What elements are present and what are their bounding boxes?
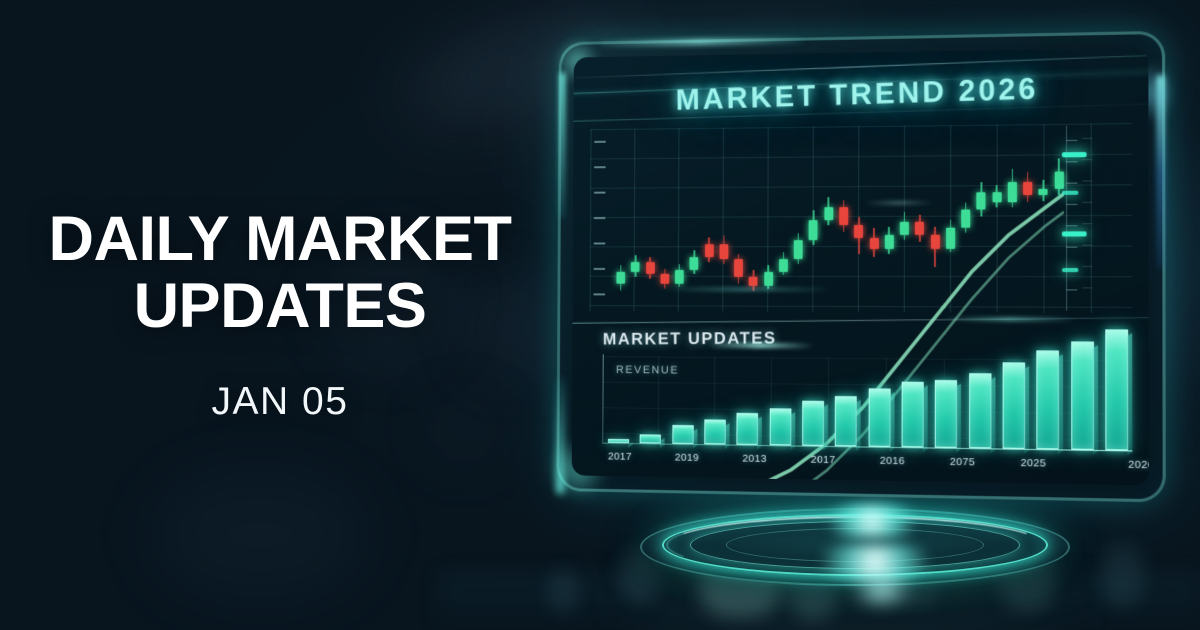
y-axis-tick [594, 268, 605, 269]
candle-body [869, 238, 878, 248]
x-axis-label: 2013 [742, 453, 766, 465]
candle-body [764, 272, 773, 285]
candlestick [690, 138, 699, 304]
candle-body [977, 192, 986, 209]
hero-copy: DAILY MARKET UPDATES JAN 05 [0, 0, 560, 630]
candlestick [885, 136, 894, 304]
base-light-flare [840, 576, 924, 604]
candlestick [675, 138, 684, 303]
x-axis-label: 2026 [1128, 459, 1149, 472]
y-axis-tick [594, 293, 605, 294]
candlestick [900, 136, 909, 305]
candle-body [946, 228, 955, 248]
x-axis-label: 2019 [675, 452, 699, 464]
revenue-bar [769, 409, 791, 446]
candle-body [660, 274, 669, 284]
candle-wick [873, 228, 875, 257]
revenue-bar [935, 380, 957, 448]
revenue-bar [1105, 329, 1128, 450]
revenue-bar [672, 425, 693, 444]
base-light-flare [800, 544, 950, 580]
candlestick [854, 136, 863, 304]
candlestick [719, 138, 728, 304]
y-axis-tick [594, 141, 605, 143]
candlestick [646, 138, 655, 303]
holographic-base [640, 498, 1070, 598]
screen-light-streak [864, 202, 934, 204]
candlestick [779, 137, 788, 304]
candlestick [961, 135, 970, 304]
revenue-bar [835, 396, 857, 446]
date-label: JAN 05 [212, 380, 349, 424]
candle-body [961, 209, 970, 228]
price-axis-label: ––– [1082, 243, 1092, 249]
x-axis-label: 2025 [1021, 457, 1047, 470]
revenue-bar [1071, 341, 1094, 450]
candle-body [779, 259, 788, 272]
candle-body [1039, 189, 1048, 196]
candle-wick [1011, 168, 1013, 207]
candle-body [992, 192, 1001, 202]
candle-wick [1027, 172, 1029, 203]
candlestick [809, 137, 818, 304]
bezel-glow-right [1157, 75, 1165, 269]
x-axis-label: 2017 [811, 454, 836, 466]
candlestick [869, 136, 878, 304]
panel-divider [572, 317, 1149, 324]
candlestick [749, 137, 758, 303]
x-axis-label: 2075 [950, 456, 975, 469]
candlestick [764, 137, 773, 304]
candlestick [930, 135, 939, 304]
y-axis-tick [594, 192, 605, 194]
x-axis-label: 2017 [608, 451, 632, 463]
candle-wick [934, 226, 936, 267]
candle-body [719, 244, 728, 259]
candlestick [794, 137, 803, 304]
price-axis-label: ––– [1083, 285, 1093, 291]
candle-wick [904, 211, 906, 240]
bezel-glow-top [600, 38, 803, 47]
revenue-bar [1037, 351, 1060, 450]
candle-body [809, 220, 818, 240]
page-title: DAILY MARKET UPDATES [40, 206, 520, 340]
poster-background: DAILY MARKET UPDATES JAN 05 MARKET TREND… [0, 0, 1200, 630]
candle-body [794, 240, 803, 258]
candle-body [616, 272, 625, 284]
candle-body [646, 262, 655, 274]
hud-line [572, 55, 1149, 79]
candlestick [839, 136, 848, 304]
candle-wick [919, 215, 921, 242]
candlestick [631, 138, 640, 303]
candlestick [704, 138, 713, 304]
candle-body [885, 235, 894, 248]
y-axis-tick [594, 217, 605, 219]
candlestick [1008, 134, 1017, 304]
candle-body [931, 235, 940, 249]
y-axis-tick [594, 166, 605, 168]
revenue-bar-chart: MARKET UPDATES REVENUE 20172019201320172… [589, 327, 1133, 480]
revenue-bar [901, 382, 923, 448]
candle-wick [1043, 180, 1045, 200]
candle-body [705, 244, 714, 257]
price-axis-label: ––– [1082, 221, 1092, 227]
bar-plot-area [608, 327, 1128, 451]
revenue-bar [1003, 362, 1025, 449]
candle-body [690, 257, 699, 270]
bar-chart-x-axis-labels: 20172019201320172016207520252026 [608, 447, 1128, 475]
candle-wick [965, 203, 967, 233]
candle-body [631, 262, 640, 272]
candlestick [946, 135, 955, 304]
revenue-bar [802, 401, 824, 446]
price-axis-label: ––– [1083, 264, 1093, 270]
candlestick [824, 136, 833, 304]
candlestick [1023, 134, 1032, 304]
candlestick-chart: –––––––––––––––––––––––– [590, 123, 1133, 313]
screen-light-streak [944, 317, 1076, 321]
candle-wick [1058, 158, 1060, 196]
revenue-bar [737, 413, 759, 445]
candle-wick [996, 186, 998, 208]
price-axis-label: ––– [1082, 157, 1092, 163]
candle-body [1023, 182, 1032, 196]
revenue-bar [969, 373, 991, 449]
y-axis-tick [594, 242, 605, 243]
candle-body [1008, 182, 1017, 202]
price-axis-label: ––– [1082, 178, 1092, 184]
candlestick [616, 139, 625, 304]
revenue-bar [704, 420, 725, 445]
candle-body [854, 225, 863, 238]
candlestick [992, 135, 1001, 305]
candle-wick [950, 220, 952, 252]
candle-wick [980, 182, 982, 216]
candlestick-plot-area [616, 134, 1064, 305]
candle-body [900, 222, 909, 236]
candlestick [660, 138, 669, 303]
candlestick [734, 137, 743, 303]
candle-body [749, 277, 758, 285]
x-axis-label: 2016 [880, 455, 905, 467]
candle-body [675, 270, 684, 283]
candle-body [915, 221, 924, 235]
candlestick [915, 135, 924, 304]
candlestick [1039, 134, 1048, 304]
base-light-flare [812, 504, 932, 538]
candle-body [824, 207, 833, 220]
candlestick [977, 135, 986, 305]
candle-body [734, 259, 743, 277]
price-axis-label: ––– [1082, 200, 1092, 206]
candle-body [839, 207, 848, 225]
price-axis-label: ––– [1082, 136, 1092, 142]
candle-wick [888, 227, 890, 254]
holographic-monitor: MARKET TREND 2026 ––––––––––––––––––––––… [556, 31, 1165, 503]
revenue-bar [868, 388, 890, 446]
y-axis-ticks-left [593, 135, 611, 305]
